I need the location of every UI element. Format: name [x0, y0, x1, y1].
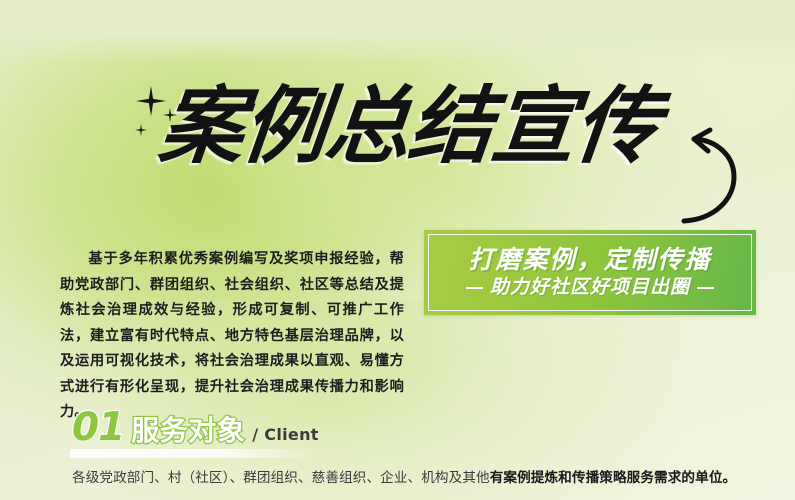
tagline-badge: 打磨案例，定制传播 助力好社区好项目出圈	[424, 230, 756, 315]
curved-arrow-icon	[644, 122, 764, 232]
section-body: 各级党政部门、村（社区）、群团组织、慈善组织、企业、机构及其他有案例提炼和传播策…	[72, 467, 772, 489]
intro-paragraph: 基于多年积累优秀案例编写及奖项申报经验，帮助党政部门、群团组织、社会组织、社区等…	[60, 247, 404, 426]
section-divider	[70, 449, 313, 458]
section-body-normal: 各级党政部门、村（社区）、群团组织、慈善组织、企业、机构及其他	[72, 470, 490, 486]
page-title: 案例总结宣传	[156, 84, 663, 168]
section-number: 01	[72, 408, 124, 447]
sparkle-small-icon	[135, 124, 147, 136]
tagline-badge-inner: 打磨案例，定制传播 助力好社区好项目出圈	[428, 234, 752, 311]
tagline-secondary: 助力好社区好项目出圈	[490, 278, 690, 298]
dash-left-icon	[466, 287, 483, 289]
tagline-primary: 打磨案例，定制传播	[468, 247, 711, 273]
background-top-band	[0, 0, 795, 62]
dash-right-icon	[697, 287, 714, 289]
section-body-strong: 有案例提炼和传播策略服务需求的单位。	[490, 470, 737, 486]
section-header: 01 服务对象 / Client	[72, 408, 319, 447]
tagline-secondary-row: 助力好社区好项目出圈	[466, 278, 714, 298]
poster-root: 案例总结宣传 基于多年积累优秀案例编写及奖项申报经验，帮助党政部门、群团组织、社…	[0, 0, 795, 500]
section-title-en: / Client	[252, 427, 318, 443]
section-title-cn: 服务对象	[131, 417, 245, 445]
